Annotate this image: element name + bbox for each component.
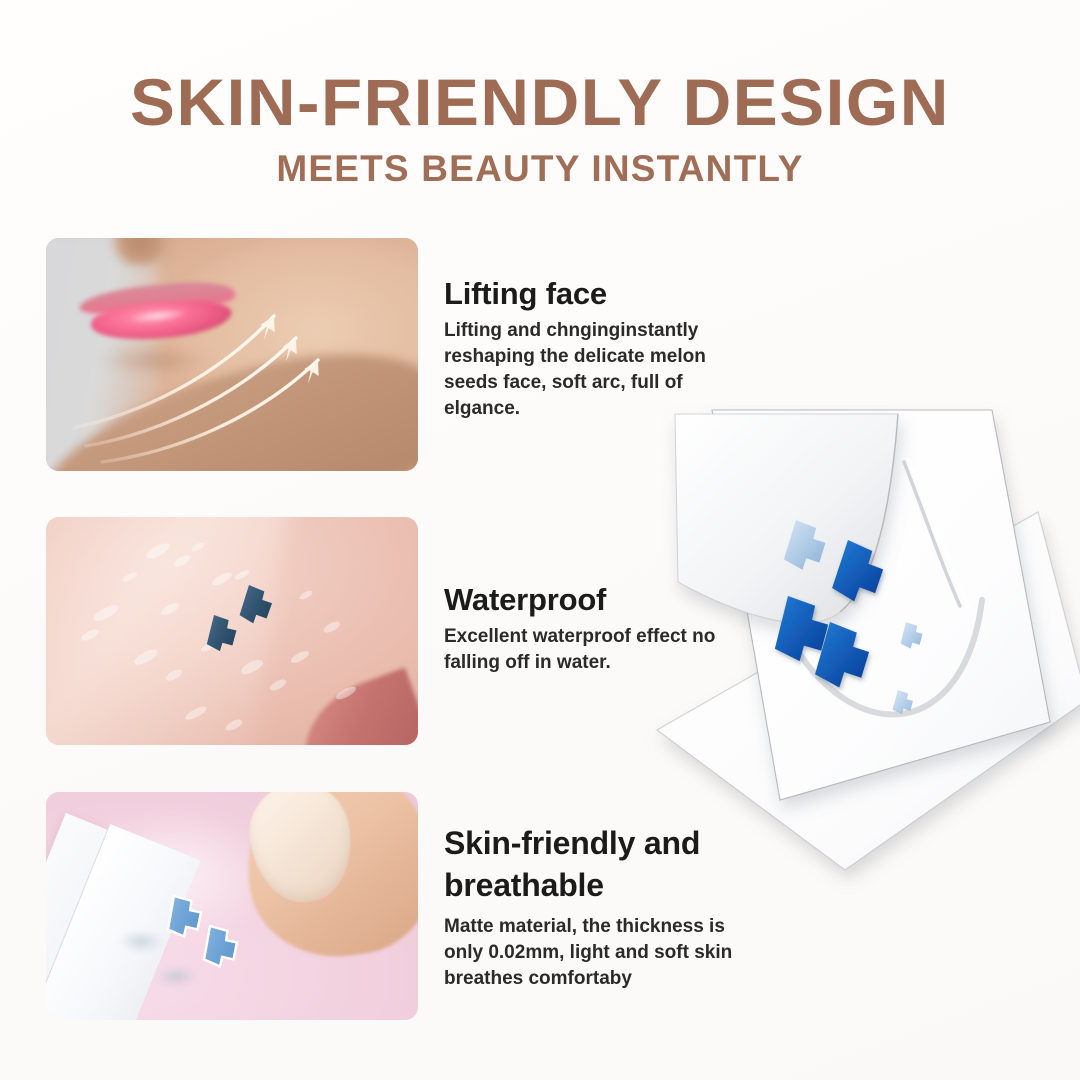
feature-image-breathable bbox=[46, 792, 418, 1020]
feature-image-waterproof bbox=[46, 517, 418, 745]
blue-arrow-stickers-icon bbox=[46, 792, 418, 1020]
feature-body-breathable: Matte material, the thickness is only 0.… bbox=[444, 914, 736, 992]
header: SKIN-FRIENDLY DESIGN MEETS BEAUTY INSTAN… bbox=[0, 66, 1080, 191]
feature-image-lifting bbox=[46, 238, 418, 471]
feature-title-lifting: Lifting face bbox=[444, 276, 740, 312]
product-sheets-illustration bbox=[640, 400, 1080, 920]
page-root: SKIN-FRIENDLY DESIGN MEETS BEAUTY INSTAN… bbox=[0, 0, 1080, 1080]
lifting-arrows-icon bbox=[46, 238, 418, 471]
blue-arrow-stickers-icon bbox=[46, 517, 418, 745]
product-hero-image bbox=[640, 400, 1080, 920]
page-subtitle: MEETS BEAUTY INSTANTLY bbox=[0, 147, 1080, 191]
page-title: SKIN-FRIENDLY DESIGN bbox=[0, 66, 1080, 138]
